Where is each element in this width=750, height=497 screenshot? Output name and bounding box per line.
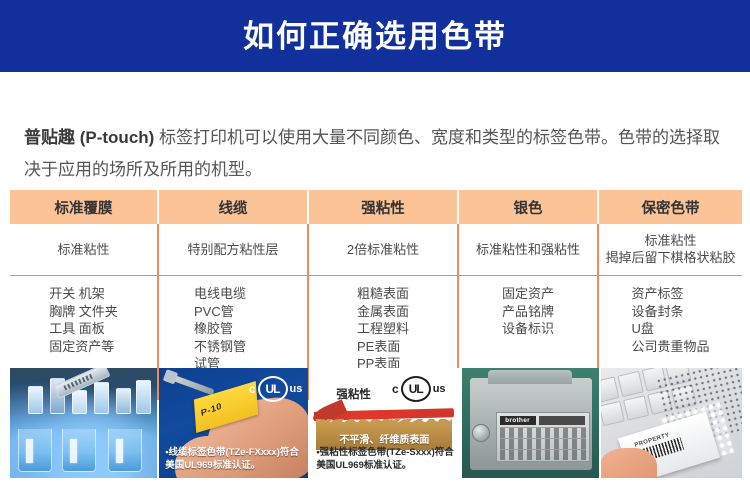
adhesive-line: 特别配方粘性层 — [161, 241, 305, 258]
use-item: 工程塑料 — [357, 320, 409, 338]
adhesive-cell-strong: 2倍标准粘性 — [308, 224, 458, 276]
use-item: 设备封条 — [631, 303, 709, 321]
photo-security-label: PROPERTY — [601, 368, 742, 478]
bolt-icon — [472, 424, 490, 442]
photo-caption: •强粘性标签色带(TZe-Sxxx)符合 美国UL969标准认证。 — [316, 446, 455, 472]
ul-suffix: us — [433, 383, 446, 395]
adhesive-cell-laminated: 标准粘性 — [10, 224, 158, 276]
adhesive-cell-silver: 标准粘性和强粘性 — [458, 224, 598, 276]
column-header-security: 保密色带 — [598, 190, 742, 224]
cable-scene-icon: P-10 c UL us •线缆标签色带(TZe-FXxxx)符合 美国UL96… — [159, 368, 308, 478]
photo-cable-label: P-10 c UL us •线缆标签色带(TZe-FXxxx)符合 美国UL96… — [159, 368, 308, 478]
ul-mark-icon: c UL us — [392, 376, 446, 402]
ul-prefix: c — [249, 382, 256, 396]
ul-mark-icon: c UL us — [249, 376, 303, 402]
use-item: 公司贵重物品 — [631, 338, 709, 356]
use-item: 开关 机架 — [49, 285, 118, 303]
intro-paragraph: 普贴趣 (P-touch) 标签打印机可以使用大量不同颜色、宽度和类型的标签色带… — [24, 122, 730, 186]
photo-strong-adhesive-diagram: 强粘性 c UL us 不平滑、纤维质表面 •强粘性标签色带(TZe-Sxxx)… — [310, 368, 459, 478]
table-row-adhesive: 标准粘性 特别配方粘性层 2倍标准粘性 标准粘性和强粘性 标准粘性 揭掉后留下棋… — [10, 224, 742, 276]
security-scene-icon: PROPERTY — [601, 368, 742, 478]
use-item: 不锈钢管 — [194, 338, 272, 356]
use-item: 粗糙表面 — [357, 285, 409, 303]
ul-glyph: UL — [258, 376, 288, 402]
column-header-cable: 线缆 — [158, 190, 308, 224]
strong-scene-icon: 强粘性 c UL us 不平滑、纤维质表面 •强粘性标签色带(TZe-Sxxx)… — [310, 368, 459, 478]
image-strip: P-10 c UL us •线缆标签色带(TZe-FXxxx)符合 美国UL96… — [10, 368, 742, 478]
use-item: 金属表面 — [357, 303, 409, 321]
photo-machine-nameplate: brother — [462, 368, 599, 478]
metal-housing-icon: brother — [470, 378, 592, 470]
lab-scene-icon — [10, 368, 157, 478]
use-item: 电线电缆 — [194, 285, 272, 303]
finger-icon — [601, 448, 657, 478]
photo-caption: •线缆标签色带(TZe-FXxxx)符合 美国UL969标准认证。 — [165, 446, 304, 472]
column-header-silver: 银色 — [458, 190, 598, 224]
table-header-row: 标准覆膜 线缆 强粘性 银色 保密色带 — [10, 190, 742, 224]
intro-lead: 普贴趣 (P-touch) — [24, 128, 154, 147]
column-header-laminated: 标准覆膜 — [10, 190, 158, 224]
ul-glyph: UL — [401, 376, 431, 402]
adhesive-line: 2倍标准粘性 — [311, 241, 455, 258]
machine-scene-icon: brother — [462, 368, 599, 478]
ul-suffix: us — [290, 383, 303, 395]
use-item: PE表面 — [357, 338, 409, 356]
ul-prefix: c — [392, 382, 399, 396]
adhesive-cell-cable: 特别配方粘性层 — [158, 224, 308, 276]
use-item: PVC管 — [194, 303, 272, 321]
use-item: U盘 — [631, 320, 709, 338]
nameplate-icon: brother — [496, 412, 590, 462]
page-root: 如何正确选用色带 普贴趣 (P-touch) 标签打印机可以使用大量不同颜色、宽… — [0, 0, 750, 497]
use-item: 固定资产 — [502, 285, 554, 303]
adhesive-cell-security: 标准粘性 揭掉后留下棋格状粘胶 — [598, 224, 742, 276]
adhesive-line: 揭掉后留下棋格状粘胶 — [601, 249, 740, 266]
surface-label: 不平滑、纤维质表面 — [316, 431, 452, 446]
adhesive-line: 标准粘性和强粘性 — [461, 241, 595, 258]
use-item: 设备标识 — [502, 320, 554, 338]
use-item: 橡胶管 — [194, 320, 272, 338]
use-item: 资产标签 — [631, 285, 709, 303]
tape-text: P-10 — [200, 401, 222, 418]
page-banner: 如何正确选用色带 — [0, 0, 750, 72]
photo-lab-beakers — [10, 368, 157, 478]
column-header-strong-adhesive: 强粘性 — [308, 190, 458, 224]
use-item: 产品铭牌 — [502, 303, 554, 321]
use-item: 固定资产等 — [49, 338, 118, 356]
page-title: 如何正确选用色带 — [243, 21, 507, 52]
adhesive-line: 标准粘性 — [601, 232, 740, 249]
brother-logo: brother — [500, 416, 536, 425]
adhesive-line: 标准粘性 — [12, 241, 155, 258]
wire-icon — [171, 375, 214, 396]
use-item: 工具 面板 — [49, 320, 118, 338]
use-item: 胸牌 文件夹 — [49, 303, 118, 321]
